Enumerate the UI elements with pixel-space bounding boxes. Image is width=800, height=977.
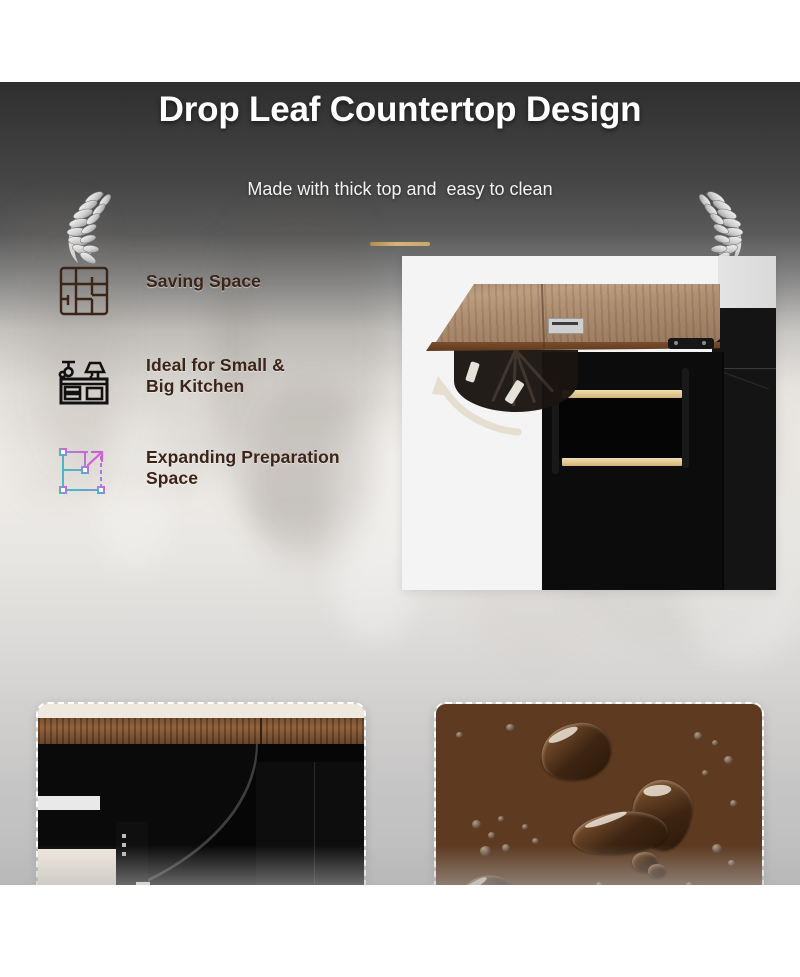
expand-resize-icon	[58, 445, 110, 497]
header: Drop Leaf Countertop Design Made with th…	[0, 82, 800, 212]
drop-leaf-kitchen-island-photo	[402, 256, 776, 590]
metal-hinge	[668, 338, 714, 349]
product-feature-graphic: Drop Leaf Countertop Design Made with th…	[0, 0, 800, 977]
title-divider	[370, 242, 430, 246]
shelf-handle	[562, 458, 682, 466]
feature-list: Saving Space	[58, 265, 388, 535]
feature-label: Saving Space	[146, 265, 261, 292]
page-subtitle: Made with thick top and easy to clean	[0, 179, 800, 200]
page-title: Drop Leaf Countertop Design	[0, 90, 800, 130]
bottom-fade	[0, 845, 800, 885]
feature-label: Ideal for Small & Big Kitchen	[146, 355, 285, 398]
feature-item-ideal-kitchen: Ideal for Small & Big Kitchen	[58, 355, 388, 409]
kitchen-counter-icon	[58, 355, 110, 407]
feature-label: Expanding Preparation Space	[146, 445, 340, 490]
feature-item-saving-space: Saving Space	[58, 265, 388, 319]
shelf-handle	[562, 390, 682, 398]
curved-fold-arrow	[422, 372, 522, 438]
content-frame: Drop Leaf Countertop Design Made with th…	[0, 82, 800, 885]
floor-plan-icon	[58, 265, 110, 317]
hinge-plate	[548, 318, 584, 334]
feature-item-expanding-space: Expanding Preparation Space	[58, 445, 388, 499]
